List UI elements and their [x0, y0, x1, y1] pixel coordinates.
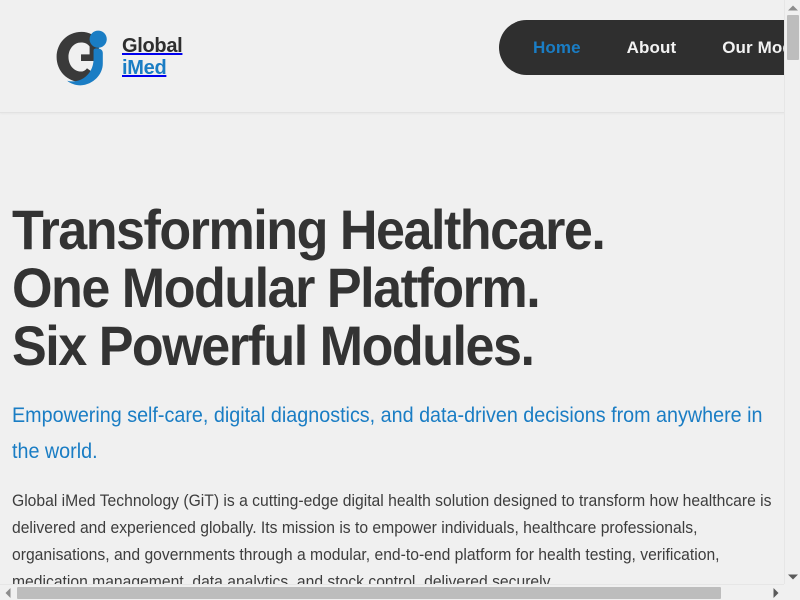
brand-logo-link[interactable]: Global iMed [50, 22, 182, 92]
brand-name-line2: iMed [122, 58, 182, 78]
hero-body-text: Global iMed Technology (GiT) is a cuttin… [12, 470, 777, 596]
page-title-line-3: Six Powerful Modules. [12, 317, 800, 375]
browser-viewport: Global iMed Home About Our Modu Transfor… [0, 0, 800, 600]
nav-item-about[interactable]: About [627, 38, 677, 58]
brand-wordmark: Global iMed [122, 36, 182, 78]
scrollbar-corner [784, 584, 800, 600]
page-content: Global iMed Home About Our Modu Transfor… [0, 0, 800, 600]
hero-section: Transforming Healthcare. One Modular Pla… [0, 113, 800, 596]
scroll-down-arrow-icon[interactable] [785, 569, 800, 584]
page-title-line-1: Transforming Healthcare. [12, 201, 800, 259]
brand-name-line1: Global [122, 36, 182, 56]
main-navigation: Home About Our Modu [499, 20, 800, 75]
vertical-scrollbar[interactable] [784, 0, 800, 584]
page-title: Transforming Healthcare. One Modular Pla… [12, 113, 800, 375]
scroll-right-arrow-icon[interactable] [768, 585, 784, 600]
hero-subtitle: Empowering self-care, digital diagnostic… [12, 375, 764, 470]
horizontal-scrollbar-thumb[interactable] [17, 587, 721, 599]
nav-item-home[interactable]: Home [533, 38, 581, 58]
vertical-scrollbar-thumb[interactable] [787, 15, 799, 60]
page-title-line-2: One Modular Platform. [12, 259, 800, 317]
scroll-left-arrow-icon[interactable] [0, 585, 16, 600]
site-header: Global iMed Home About Our Modu [0, 0, 800, 113]
horizontal-scrollbar[interactable] [0, 584, 784, 600]
scroll-up-arrow-icon[interactable] [785, 0, 800, 15]
global-imed-logo-icon [50, 24, 116, 90]
